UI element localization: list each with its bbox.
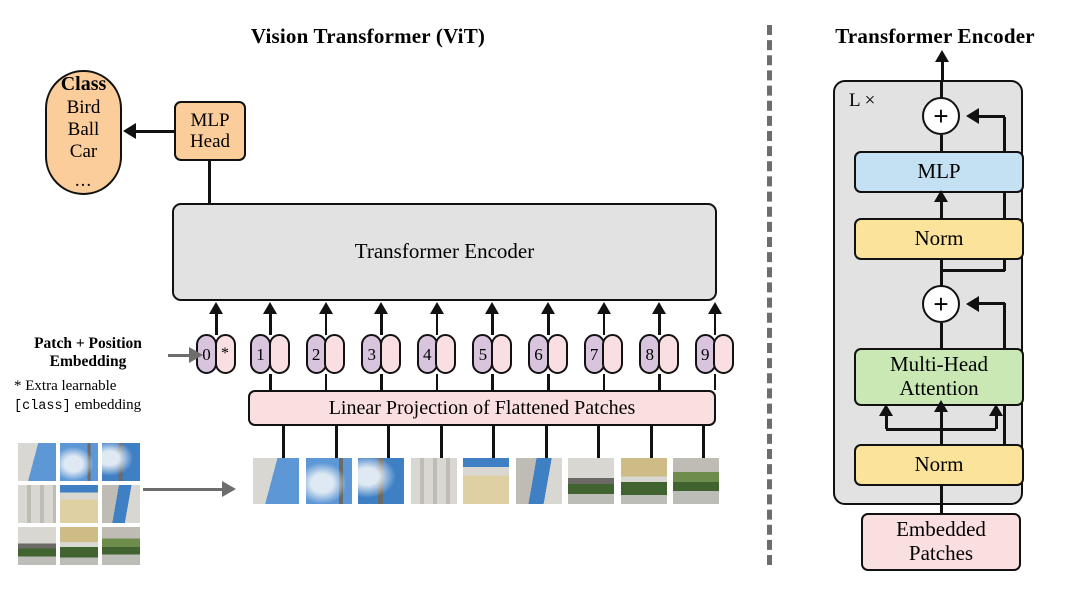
left-panel-title: Vision Transformer (ViT) bbox=[148, 24, 588, 49]
token-down-line-4 bbox=[436, 374, 439, 390]
qkv-arrowhead-v bbox=[989, 404, 1003, 416]
mlp-to-class-arrowhead bbox=[123, 123, 136, 139]
patch-stem-3 bbox=[387, 426, 390, 458]
token-down-line-1 bbox=[269, 374, 272, 390]
grid-to-patches-line bbox=[143, 488, 223, 491]
source-patch-r2-c0 bbox=[18, 527, 56, 565]
source-patch-r0-c0 bbox=[18, 443, 56, 481]
token-up-arrowhead-7 bbox=[597, 302, 611, 314]
norm-top-to-plus-line bbox=[940, 259, 943, 288]
token-up-line-8 bbox=[658, 313, 661, 335]
token-7[interactable]: 7 bbox=[584, 334, 624, 374]
attn-residual-top bbox=[978, 302, 1005, 305]
flattened-patch-4 bbox=[411, 458, 457, 504]
class-pill-item-ball: Ball bbox=[68, 119, 100, 141]
token-embedding-5 bbox=[491, 334, 512, 374]
token-down-line-3 bbox=[380, 374, 383, 390]
patch-stem-7 bbox=[597, 426, 600, 458]
attention-to-plus-line bbox=[940, 323, 943, 351]
token-embedding-3 bbox=[380, 334, 401, 374]
flattened-patch-9 bbox=[673, 458, 719, 504]
norm-top-label: Norm bbox=[915, 227, 964, 251]
token-up-arrowhead-3 bbox=[374, 302, 388, 314]
embedded-patches-block: Embedded Patches bbox=[861, 513, 1021, 571]
mlp-head-line1: MLP bbox=[190, 110, 229, 131]
mlp-residual-top bbox=[978, 115, 1005, 118]
mlp-head-line2: Head bbox=[190, 131, 230, 152]
token-up-arrowhead-1 bbox=[263, 302, 277, 314]
flattened-patch-7 bbox=[568, 458, 614, 504]
pp-label-line1: Patch + Position bbox=[8, 335, 168, 353]
linear-projection-block: Linear Projection of Flattened Patches bbox=[248, 390, 716, 426]
token-up-arrowhead-2 bbox=[319, 302, 333, 314]
residual-add-bottom: + bbox=[922, 285, 960, 323]
norm-bottom-label: Norm bbox=[915, 453, 964, 477]
residual-add-top: + bbox=[922, 97, 960, 135]
token-down-line-7 bbox=[603, 374, 606, 390]
class-pill-item-car: Car bbox=[70, 141, 97, 163]
qkv-arrowhead-q bbox=[879, 404, 893, 416]
source-patch-r2-c1 bbox=[60, 527, 98, 565]
token-up-line-1 bbox=[269, 313, 272, 335]
norm-bottom-to-embedded-line bbox=[940, 485, 943, 515]
token-embedding-7 bbox=[602, 334, 623, 374]
token-1[interactable]: 1 bbox=[250, 334, 290, 374]
token-up-line-7 bbox=[603, 313, 606, 335]
token-up-arrowhead-6 bbox=[541, 302, 555, 314]
flattened-patch-8 bbox=[621, 458, 667, 504]
pp-label-arrow-line bbox=[168, 354, 190, 357]
token-up-line-3 bbox=[380, 313, 383, 335]
flattened-patch-5 bbox=[463, 458, 509, 504]
mlp-residual-arrowhead bbox=[966, 108, 979, 124]
token-embedding-8 bbox=[658, 334, 679, 374]
token-down-line-6 bbox=[547, 374, 550, 390]
class-token-mono: [class] bbox=[14, 399, 71, 414]
residual-add-top-symbol: + bbox=[933, 103, 948, 129]
token-embedding-6 bbox=[547, 334, 568, 374]
token-number-1: 1 bbox=[250, 334, 271, 374]
source-patch-r0-c2 bbox=[102, 443, 140, 481]
token-up-line-5 bbox=[491, 313, 494, 335]
pp-label-arrowhead bbox=[189, 347, 203, 363]
source-patch-r0-c1 bbox=[60, 443, 98, 481]
token-up-arrowhead-8 bbox=[652, 302, 666, 314]
token-up-line-0 bbox=[215, 313, 218, 335]
grid-to-patches-arrowhead bbox=[222, 481, 236, 497]
mlp-residual-bottom bbox=[943, 269, 1005, 272]
flattened-patch-6 bbox=[516, 458, 562, 504]
encoder-output-arrowhead bbox=[935, 50, 949, 62]
norm-top-to-mlp-arrowhead bbox=[934, 190, 948, 202]
token-embedding-2 bbox=[324, 334, 345, 374]
source-patch-r1-c1 bbox=[60, 485, 98, 523]
token-up-line-4 bbox=[436, 313, 439, 335]
class-token-star: * bbox=[215, 334, 236, 374]
token-down-line-5 bbox=[491, 374, 494, 390]
token-up-line-6 bbox=[547, 313, 550, 335]
patch-stem-5 bbox=[492, 426, 495, 458]
token-5[interactable]: 5 bbox=[472, 334, 512, 374]
token-number-6: 6 bbox=[528, 334, 549, 374]
patch-stem-1 bbox=[282, 426, 285, 458]
patch-stem-2 bbox=[335, 426, 338, 458]
token-2[interactable]: 2 bbox=[306, 334, 346, 374]
extra-learnable-note: * Extra learnable [class] embedding bbox=[14, 377, 141, 416]
embedded-patches-line1: Embedded bbox=[896, 518, 986, 542]
multi-head-attention-block: Multi-Head Attention bbox=[854, 348, 1024, 406]
pp-label-line2: Embedding bbox=[8, 353, 168, 371]
token-up-arrowhead-0 bbox=[209, 302, 223, 314]
source-patch-r1-c0 bbox=[18, 485, 56, 523]
class-output-pill: Class Bird Ball Car ... bbox=[45, 70, 122, 195]
token-8[interactable]: 8 bbox=[639, 334, 679, 374]
patch-stem-8 bbox=[650, 426, 653, 458]
source-patch-r2-c2 bbox=[102, 527, 140, 565]
embedded-patches-line2: Patches bbox=[909, 542, 973, 566]
mlp-block-label: MLP bbox=[917, 160, 960, 184]
token-up-arrowhead-9 bbox=[708, 302, 722, 314]
mlp-block: MLP bbox=[854, 151, 1024, 193]
patch-position-embedding-label: Patch + Position Embedding bbox=[8, 335, 168, 371]
token-down-line-2 bbox=[325, 374, 328, 390]
token-3[interactable]: 3 bbox=[361, 334, 401, 374]
token-down-line-9 bbox=[714, 374, 717, 390]
norm-bottom-block: Norm bbox=[854, 444, 1024, 486]
mlp-to-class-line bbox=[136, 130, 174, 133]
flattened-patch-3 bbox=[358, 458, 404, 504]
token-embedding-9 bbox=[713, 334, 734, 374]
token-down-line-8 bbox=[658, 374, 661, 390]
class-pill-ellipsis: ... bbox=[75, 170, 92, 191]
flattened-patch-2 bbox=[306, 458, 352, 504]
repeat-count-label: L × bbox=[849, 90, 875, 112]
class-pill-header: Class bbox=[61, 73, 107, 95]
class-pill-item-bird: Bird bbox=[67, 97, 101, 119]
linear-projection-label: Linear Projection of Flattened Patches bbox=[329, 397, 636, 419]
top-plus-up-line bbox=[940, 80, 943, 98]
token-up-arrowhead-5 bbox=[485, 302, 499, 314]
flattened-patch-1 bbox=[253, 458, 299, 504]
transformer-encoder-label: Transformer Encoder bbox=[355, 240, 534, 264]
norm-top-block: Norm bbox=[854, 218, 1024, 260]
extra-note-line1: * Extra learnable bbox=[14, 377, 141, 396]
attn-residual-arrowhead bbox=[966, 296, 979, 312]
extra-note-suffix: embedding bbox=[71, 397, 141, 413]
source-patch-r1-c2 bbox=[102, 485, 140, 523]
panel-divider bbox=[767, 25, 772, 565]
token-embedding-4 bbox=[435, 334, 456, 374]
extra-note-line2: [class] embedding bbox=[14, 396, 141, 416]
token-9[interactable]: 9 bbox=[695, 334, 735, 374]
token-up-line-2 bbox=[325, 313, 328, 335]
token-4[interactable]: 4 bbox=[417, 334, 457, 374]
attention-label-line2: Attention bbox=[899, 377, 978, 401]
mlp-head-block: MLP Head bbox=[174, 101, 246, 161]
token-embedding-1 bbox=[269, 334, 290, 374]
patch-stem-6 bbox=[545, 426, 548, 458]
attention-label-line1: Multi-Head bbox=[890, 353, 988, 377]
token-up-line-9 bbox=[714, 313, 717, 335]
mlp-head-to-encoder-line bbox=[208, 160, 211, 205]
transformer-encoder-block: Transformer Encoder bbox=[172, 203, 717, 301]
vit-architecture-diagram: Vision Transformer (ViT) Class Bird Ball… bbox=[0, 0, 1080, 593]
residual-add-bottom-symbol: + bbox=[933, 291, 948, 317]
patch-stem-9 bbox=[702, 426, 705, 458]
token-up-arrowhead-4 bbox=[430, 302, 444, 314]
qkv-arrowhead-k bbox=[934, 400, 948, 412]
right-panel-title: Transformer Encoder bbox=[790, 24, 1080, 49]
token-6[interactable]: 6 bbox=[528, 334, 568, 374]
patch-stem-4 bbox=[440, 426, 443, 458]
